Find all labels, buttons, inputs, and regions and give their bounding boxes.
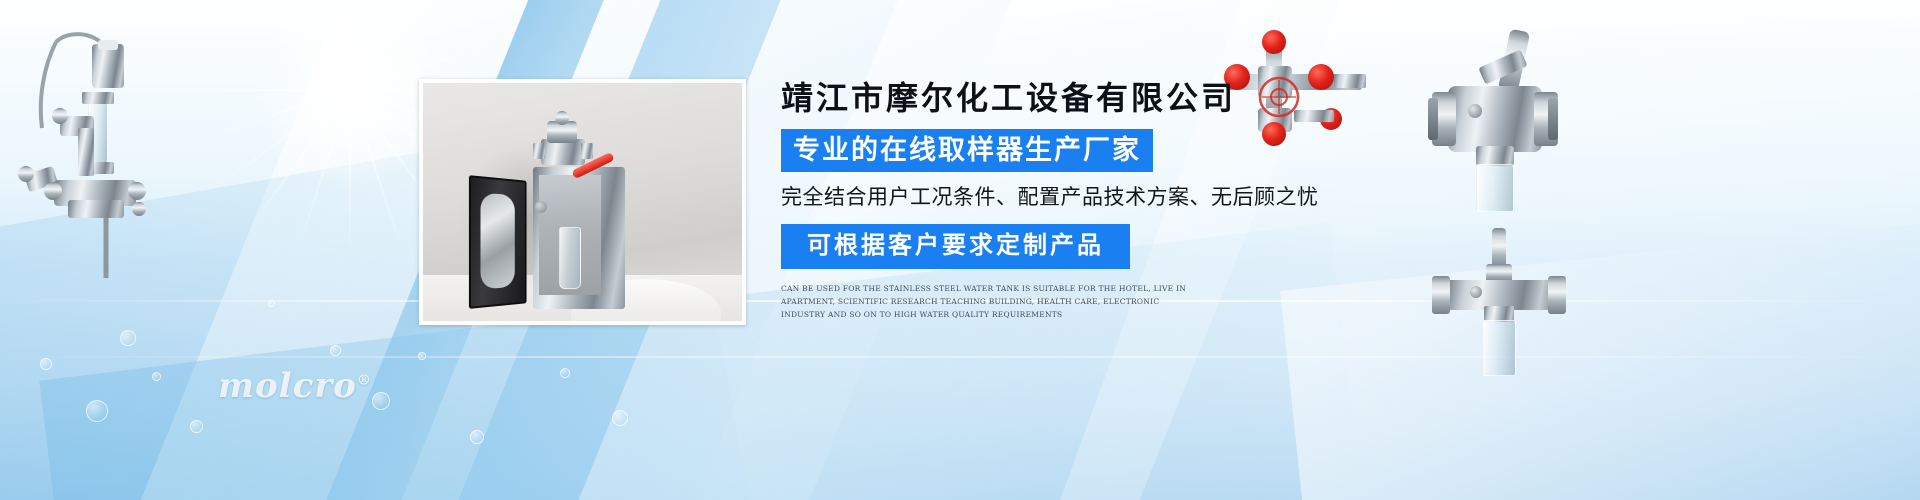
product-photo-sampling-cabinet — [419, 79, 746, 325]
water-bubble-icon — [190, 420, 203, 433]
headline-primary: 专业的在线取样器生产厂家 — [781, 129, 1153, 172]
english-subtext: CAN BE USED FOR THE STAINLESS STEEL WATE… — [781, 282, 1191, 321]
water-bubble-icon — [560, 368, 570, 378]
company-name: 靖江市摩尔化工设备有限公司 — [781, 78, 1401, 118]
background-horizon-line-2 — [0, 356, 1920, 358]
water-bubble-icon — [120, 330, 136, 346]
brand-watermark: molcro® — [218, 366, 372, 406]
water-bubble-icon — [470, 430, 484, 444]
water-bubble-icon — [268, 300, 275, 307]
water-bubble-icon — [86, 400, 108, 422]
product-inline-sampling-valve — [1430, 228, 1570, 388]
water-bubble-icon — [372, 392, 390, 410]
registered-mark-icon: ® — [357, 373, 372, 389]
cabinet-body — [533, 167, 625, 309]
water-bubble-icon — [40, 358, 52, 370]
product-online-sampler-assembly — [8, 20, 168, 290]
banner-text-block: 靖江市摩尔化工设备有限公司 专业的在线取样器生产厂家 完全结合用户工况条件、配置… — [781, 78, 1401, 321]
product-lever-handle-valve — [1418, 28, 1566, 218]
banner-description: 完全结合用户工况条件、配置产品技术方案、无后顾之忧 — [781, 184, 1401, 212]
headline-secondary: 可根据客户要求定制产品 — [781, 224, 1130, 269]
water-bubble-icon — [152, 372, 161, 381]
water-bubble-icon — [330, 345, 341, 356]
watermark-text: molcro — [218, 366, 357, 406]
valve-handwheel-icon — [1262, 30, 1286, 54]
water-bubble-icon — [418, 352, 426, 360]
sampler-valve-head — [519, 109, 595, 173]
water-bubble-icon — [612, 410, 628, 426]
sample-bottle — [559, 227, 581, 289]
cabinet-door — [469, 175, 527, 309]
promotional-banner: 靖江市摩尔化工设备有限公司 专业的在线取样器生产厂家 完全结合用户工况条件、配置… — [0, 0, 1920, 500]
